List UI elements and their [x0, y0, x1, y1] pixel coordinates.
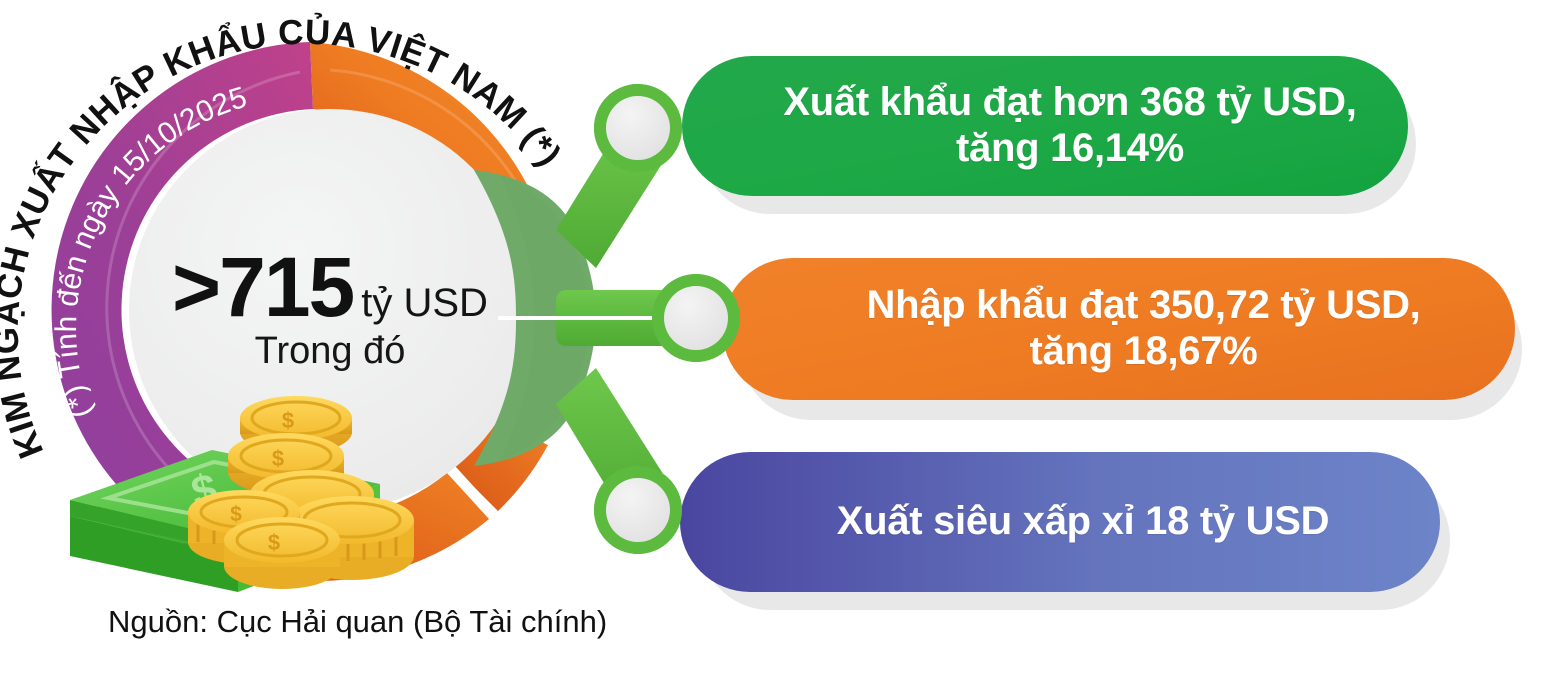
source-note: Nguồn: Cục Hải quan (Bộ Tài chính): [108, 604, 607, 640]
panel-trade-surplus-text: Xuất siêu xấp xỉ 18 tỷ USD: [680, 499, 1440, 545]
panel-trade-surplus-line1: Xuất siêu xấp xỉ 18 tỷ USD: [766, 499, 1400, 545]
panel-import-line2: tăng 18,67%: [812, 329, 1475, 375]
svg-text:$: $: [268, 530, 280, 555]
infographic-canvas: $ $ $: [0, 0, 1555, 673]
svg-text:$: $: [230, 503, 242, 526]
panel-import-line1: Nhập khẩu đạt 350,72 tỷ USD,: [812, 283, 1475, 329]
panel-export[interactable]: Xuất khẩu đạt hơn 368 tỷ USD, tăng 16,14…: [682, 56, 1408, 196]
panel-import-text: Nhập khẩu đạt 350,72 tỷ USD, tăng 18,67%: [722, 283, 1515, 374]
panel-export-line1: Xuất khẩu đạt hơn 368 tỷ USD,: [778, 80, 1362, 126]
panel-trade-surplus[interactable]: Xuất siêu xấp xỉ 18 tỷ USD: [680, 452, 1440, 592]
panel-export-text: Xuất khẩu đạt hơn 368 tỷ USD, tăng 16,14…: [682, 80, 1408, 171]
panel-import[interactable]: Nhập khẩu đạt 350,72 tỷ USD, tăng 18,67%: [722, 258, 1515, 400]
panel-export-line2: tăng 16,14%: [778, 126, 1362, 172]
svg-text:$: $: [282, 408, 294, 433]
svg-text:$: $: [272, 446, 284, 471]
